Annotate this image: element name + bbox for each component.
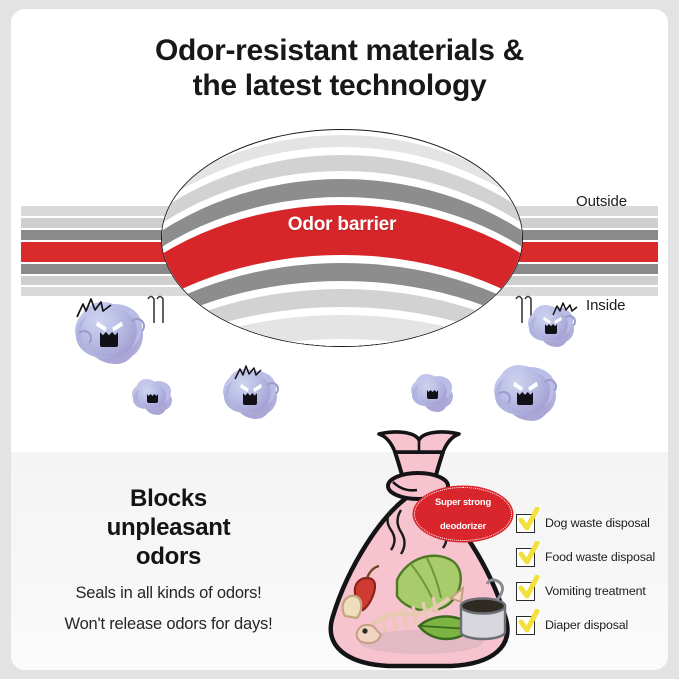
germ-character <box>138 383 166 409</box>
anger-spark-icon <box>233 364 263 382</box>
checklist-item[interactable]: Diaper disposal <box>516 614 666 647</box>
odor-barrier-label: Odor barrier <box>162 214 522 236</box>
blocks-subtext: Seals in all kinds of odors! Won't relea… <box>21 578 316 640</box>
germ-character <box>417 378 447 406</box>
blocks-headline: Blocks unpleasant odors <box>41 484 296 571</box>
trash-bag-svg <box>311 430 526 670</box>
germ-character <box>500 369 550 415</box>
badge-line-1: Super strong <box>435 496 491 508</box>
checkmark-icon <box>518 575 540 606</box>
germ-arm-right <box>129 318 145 334</box>
checklist-item-label: Diaper disposal <box>545 616 628 635</box>
anger-spark-icon <box>551 301 579 318</box>
blocks-headline-line-2: unpleasant <box>41 513 296 542</box>
blocks-subtext-line-1: Seals in all kinds of odors! <box>21 578 316 609</box>
blocks-headline-line-3: odors <box>41 542 296 571</box>
top-section: Odor-resistant materials & the latest te… <box>11 9 668 452</box>
title-line-2: the latest technology <box>11 68 668 103</box>
checklist-item-label: Vomiting treatment <box>545 582 646 601</box>
badge-text: Super strong deodorizer <box>435 496 491 532</box>
badge-line-2: deodorizer <box>435 520 491 532</box>
anger-spark-icon <box>74 297 114 321</box>
checkmark-icon <box>518 507 540 538</box>
inside-label: Inside <box>586 297 625 314</box>
germ-arm-right <box>265 382 279 396</box>
outside-label: Outside <box>576 193 627 210</box>
page-title: Odor-resistant materials & the latest te… <box>11 33 668 103</box>
checklist-item-label: Dog waste disposal <box>545 514 650 533</box>
checkmark-icon <box>518 609 540 640</box>
odor-squiggle-icon <box>143 293 169 327</box>
deodorizer-badge: Super strong deodorizer <box>414 487 512 541</box>
blocks-headline-line-1: Blocks <box>41 484 296 513</box>
magnifier-oval: Odor barrier <box>161 129 523 347</box>
blocks-subtext-line-2: Won't release odors for days! <box>21 609 316 640</box>
checklist-item-label: Food waste disposal <box>545 548 655 567</box>
germ-arm-right <box>542 379 557 394</box>
use-case-checklist: Dog waste disposal Food waste disposal <box>516 512 666 648</box>
germ-arm-left <box>496 391 511 406</box>
trash-bag-illustration: Super strong deodorizer <box>311 430 526 670</box>
infographic-card: Odor-resistant materials & the latest te… <box>11 9 668 670</box>
bottom-section: Blocks unpleasant odors Seals in all kin… <box>11 452 668 670</box>
checkmark-icon <box>518 541 540 572</box>
title-line-1: Odor-resistant materials & <box>11 33 668 68</box>
germ-arm-left <box>76 330 92 346</box>
